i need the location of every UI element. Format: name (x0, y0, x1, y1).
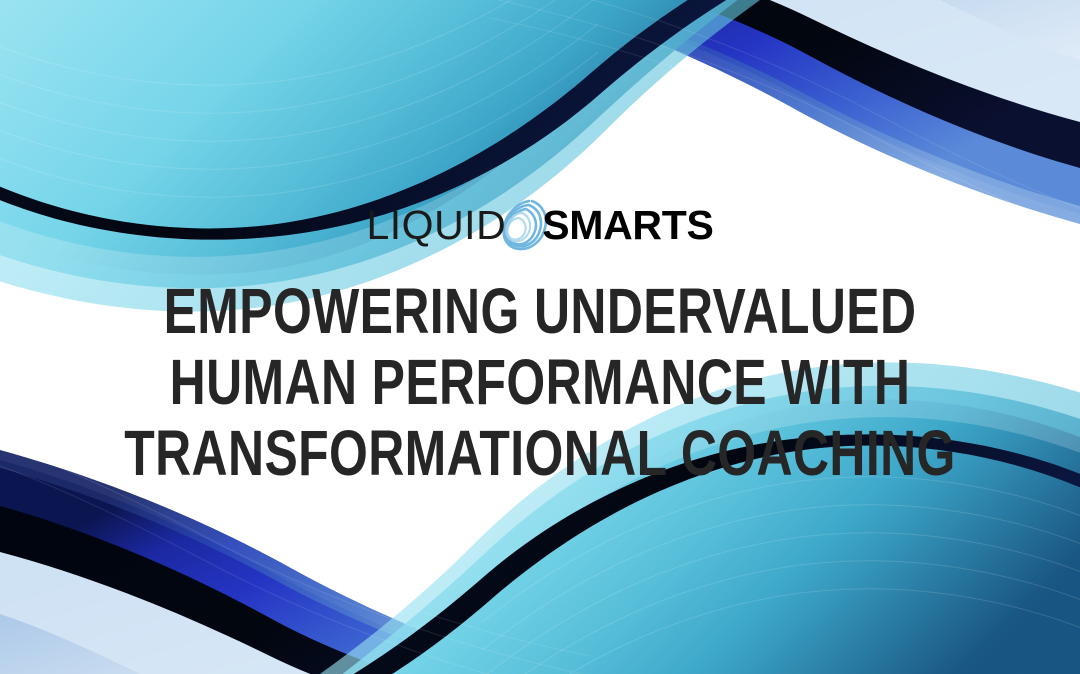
headline-line-1: EMPOWERING UNDERVALUED (119, 276, 961, 347)
logo-word-liquid: LIQUID (366, 205, 506, 246)
content-block: LIQUID SMARTS EMPOWERING UNDERVALUED HUM… (0, 0, 1080, 674)
headline-line-3: TRANSFORMATIONAL COACHING (119, 418, 961, 489)
logo-word-smarts: SMARTS (542, 205, 713, 246)
liquidsmarts-logo: LIQUID SMARTS (366, 196, 713, 254)
title-card-canvas: LIQUID SMARTS EMPOWERING UNDERVALUED HUM… (0, 0, 1080, 674)
headline: EMPOWERING UNDERVALUED HUMAN PERFORMANCE… (0, 276, 1080, 489)
headline-line-2: HUMAN PERFORMANCE WITH (119, 347, 961, 418)
